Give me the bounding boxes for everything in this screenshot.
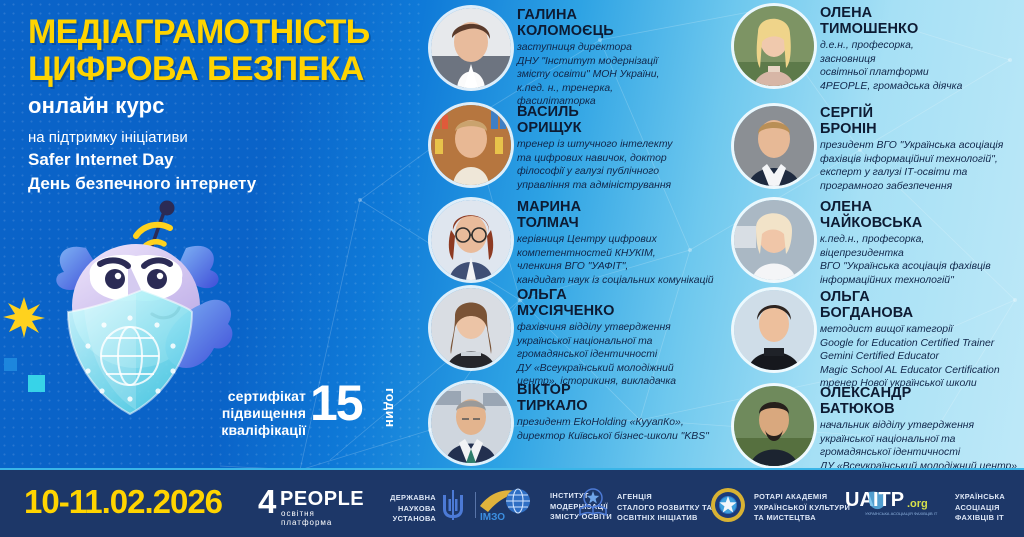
speaker-column-right: ОЛЕНА ТИМОШЕНКО д.е.н., професорка, засн…	[728, 0, 1024, 468]
speaker-role: тренер із штучного інтелекту та цифрових…	[517, 138, 722, 192]
svg-text:ITP: ITP	[873, 489, 904, 511]
speaker-last-name: БОГДАНОВА	[820, 306, 1022, 322]
speaker-name: СЕРГІЙ БРОНІН	[820, 106, 1022, 137]
speaker-name: ВІКТОР ТИРКАЛО	[517, 383, 722, 414]
speaker-info: ОЛЕКСАНДР БАТЮКОВ начальник відділу утве…	[820, 386, 1022, 473]
speaker-role: к.пед.н., професорка, віцепрезидентка ВГ…	[820, 233, 1022, 287]
speaker-name: МАРИНА ТОЛМАЧ	[517, 200, 722, 231]
logo-digit: 4	[258, 485, 276, 518]
avatar	[734, 6, 814, 86]
avatar	[431, 200, 511, 280]
speaker-info: ВАСИЛЬ ОРИЩУК тренер із штучного інтелек…	[517, 105, 722, 192]
speaker-info: ОЛЕНА ТИМОШЕНКО д.е.н., професорка, засн…	[820, 6, 1022, 93]
speaker-first-name: ОЛЬГА	[820, 290, 1022, 306]
certificate-badge: сертифікат підвищення кваліфікації 15 го…	[188, 386, 418, 442]
speaker-first-name: ВАСИЛЬ	[517, 105, 722, 121]
decor-square-small	[4, 358, 17, 371]
initiative-name-uk: День безпечного інтернету	[28, 172, 418, 196]
speaker-role: начальник відділу утвердження українсько…	[820, 419, 1022, 473]
speaker-last-name: МУСІЯЧЕНКО	[517, 304, 722, 320]
speaker-first-name: ОЛЬГА	[517, 288, 722, 304]
certificate-hours-unit: годин	[384, 388, 397, 428]
speaker-last-name: КОЛОМОЄЦЬ	[517, 24, 722, 40]
avatar	[734, 290, 814, 370]
certificate-line-1: сертифікат	[188, 388, 306, 405]
avatar	[431, 8, 511, 88]
speaker-first-name: СЕРГІЙ	[820, 106, 1022, 122]
speaker-first-name: ВІКТОР	[517, 383, 722, 399]
partner-logo-uaitp: UA ITP .org УКРАЇНСЬКА АСОЦІАЦІЯ ФАХІВЦІ…	[845, 470, 1024, 537]
avatar	[431, 383, 511, 463]
certificate-hours-number: 15	[310, 378, 362, 428]
speaker-first-name: МАРИНА	[517, 200, 722, 216]
speaker-info: ВІКТОР ТИРКАЛО президент EkoHolding «Куу…	[517, 383, 722, 443]
speaker-info: ГАЛИНА КОЛОМОЄЦЬ заступниця директора ДН…	[517, 8, 722, 109]
partner-label: УКРАЇНСЬКА АСОЦІАЦІЯ ФАХІВЦІВ ІТ	[955, 492, 1024, 524]
speaker-info: ОЛЬГА МУСІЯЧЕНКО фахівчиня відділу утвер…	[517, 288, 722, 389]
course-format-label: онлайн курс	[28, 93, 408, 119]
avatar	[431, 288, 511, 368]
initiative-prefix: на підтримку ініціативи	[28, 127, 418, 148]
4people-logo: 4 PEOPLE освітня платформа	[258, 486, 358, 524]
avatar	[734, 106, 814, 186]
speaker-info: ОЛЕНА ЧАЙКОВСЬКА к.пед.н., професорка, в…	[820, 200, 1022, 287]
initiative-name-en: Safer Internet Day	[28, 148, 418, 172]
speaker-info: СЕРГІЙ БРОНІН президент ВГО "Українська …	[820, 106, 1022, 193]
speaker-role: д.е.н., професорка, засновниця освітньої…	[820, 39, 1022, 93]
left-panel: МЕДІАГРАМОТНІСТЬ ЦИФРОВА БЕЗПЕКА онлайн …	[0, 0, 420, 468]
speaker-name: ГАЛИНА КОЛОМОЄЦЬ	[517, 8, 722, 39]
trident-icon	[442, 490, 464, 520]
title-line-2: ЦИФРОВА БЕЗПЕКА	[28, 51, 408, 88]
speaker-role: методист вищої категорії Google for Educ…	[820, 323, 1022, 391]
speaker-last-name: ОРИЩУК	[517, 121, 722, 137]
uaitp-logo-icon: UA ITP .org УКРАЇНСЬКА АСОЦІАЦІЯ ФАХІВЦІ…	[845, 488, 949, 520]
speaker-last-name: ТИРКАЛО	[517, 399, 722, 415]
certificate-text: сертифікат підвищення кваліфікації	[188, 388, 306, 439]
speaker-name: ОЛЬГА БОГДАНОВА	[820, 290, 1022, 321]
partner-label: ДЕРЖАВНА НАУКОВА УСТАНОВА	[378, 493, 436, 525]
avatar	[734, 386, 814, 466]
logo-wordmark: PEOPLE	[280, 488, 364, 511]
speaker-name: ОЛЕНА ТИМОШЕНКО	[820, 6, 1022, 37]
speaker-first-name: ОЛЕКСАНДР	[820, 386, 1022, 402]
svg-text:.org: .org	[907, 498, 928, 510]
speaker-first-name: ОЛЕНА	[820, 6, 1022, 22]
speaker-role: фахівчиня відділу утвердження українсько…	[517, 321, 722, 389]
speaker-role: президент ВГО "Українська асоціація фахі…	[820, 139, 1022, 193]
speaker-last-name: БАТЮКОВ	[820, 402, 1022, 418]
speaker-info: МАРИНА ТОЛМАЧ керівниця Центру цифрових …	[517, 200, 722, 287]
speaker-last-name: ЧАЙКОВСЬКА	[820, 216, 1022, 232]
speaker-last-name: БРОНІН	[820, 122, 1022, 138]
speaker-last-name: ТОЛМАЧ	[517, 216, 722, 232]
title-line-1: МЕДІАГРАМОТНІСТЬ	[28, 13, 370, 51]
speaker-name: ОЛЕКСАНДР БАТЮКОВ	[820, 386, 1022, 417]
speaker-name: ОЛЕНА ЧАЙКОВСЬКА	[820, 200, 1022, 231]
imzo-globe-icon: ІМЗО	[478, 486, 544, 522]
svg-text:УКРАЇНСЬКА АСОЦІАЦІЯ ФАХІВЦІВ: УКРАЇНСЬКА АСОЦІАЦІЯ ФАХІВЦІВ ІТ	[865, 511, 938, 516]
speaker-column-middle: ГАЛИНА КОЛОМОЄЦЬ заступниця директора ДН…	[425, 0, 725, 468]
logo-tagline: освітня платформа	[281, 509, 358, 527]
promo-poster: МЕДІАГРАМОТНІСТЬ ЦИФРОВА БЕЗПЕКА онлайн …	[0, 0, 1024, 537]
avatar	[734, 200, 814, 280]
speaker-info: ОЛЬГА БОГДАНОВА методист вищої категорії…	[820, 290, 1022, 391]
page-title: МЕДІАГРАМОТНІСТЬ ЦИФРОВА БЕЗПЕКА	[28, 14, 408, 87]
speaker-role: президент EkoHolding «КууапКо», директор…	[517, 416, 722, 443]
book-star-icon	[576, 487, 610, 521]
speaker-first-name: ОЛЕНА	[820, 200, 1022, 216]
avatar	[431, 105, 511, 185]
speaker-last-name: ТИМОШЕНКО	[820, 22, 1022, 38]
rotary-seal-icon	[710, 487, 746, 523]
certificate-line-2: підвищення	[188, 405, 306, 422]
initiative-block: на підтримку ініціативи Safer Internet D…	[28, 127, 418, 197]
speaker-role: заступниця директора ДНУ "Інститут модер…	[517, 41, 722, 109]
speaker-first-name: ГАЛИНА	[517, 8, 722, 24]
speaker-name: ОЛЬГА МУСІЯЧЕНКО	[517, 288, 722, 319]
certificate-line-3: кваліфікації	[188, 422, 306, 439]
footer-bar: 10-11.02.2026 4 PEOPLE освітня платформа…	[0, 468, 1024, 537]
svg-text:ІМЗО: ІМЗО	[480, 512, 505, 522]
speaker-role: керівниця Центру цифрових компетентносте…	[517, 233, 722, 287]
event-date: 10-11.02.2026	[24, 483, 222, 521]
speaker-name: ВАСИЛЬ ОРИЩУК	[517, 105, 722, 136]
